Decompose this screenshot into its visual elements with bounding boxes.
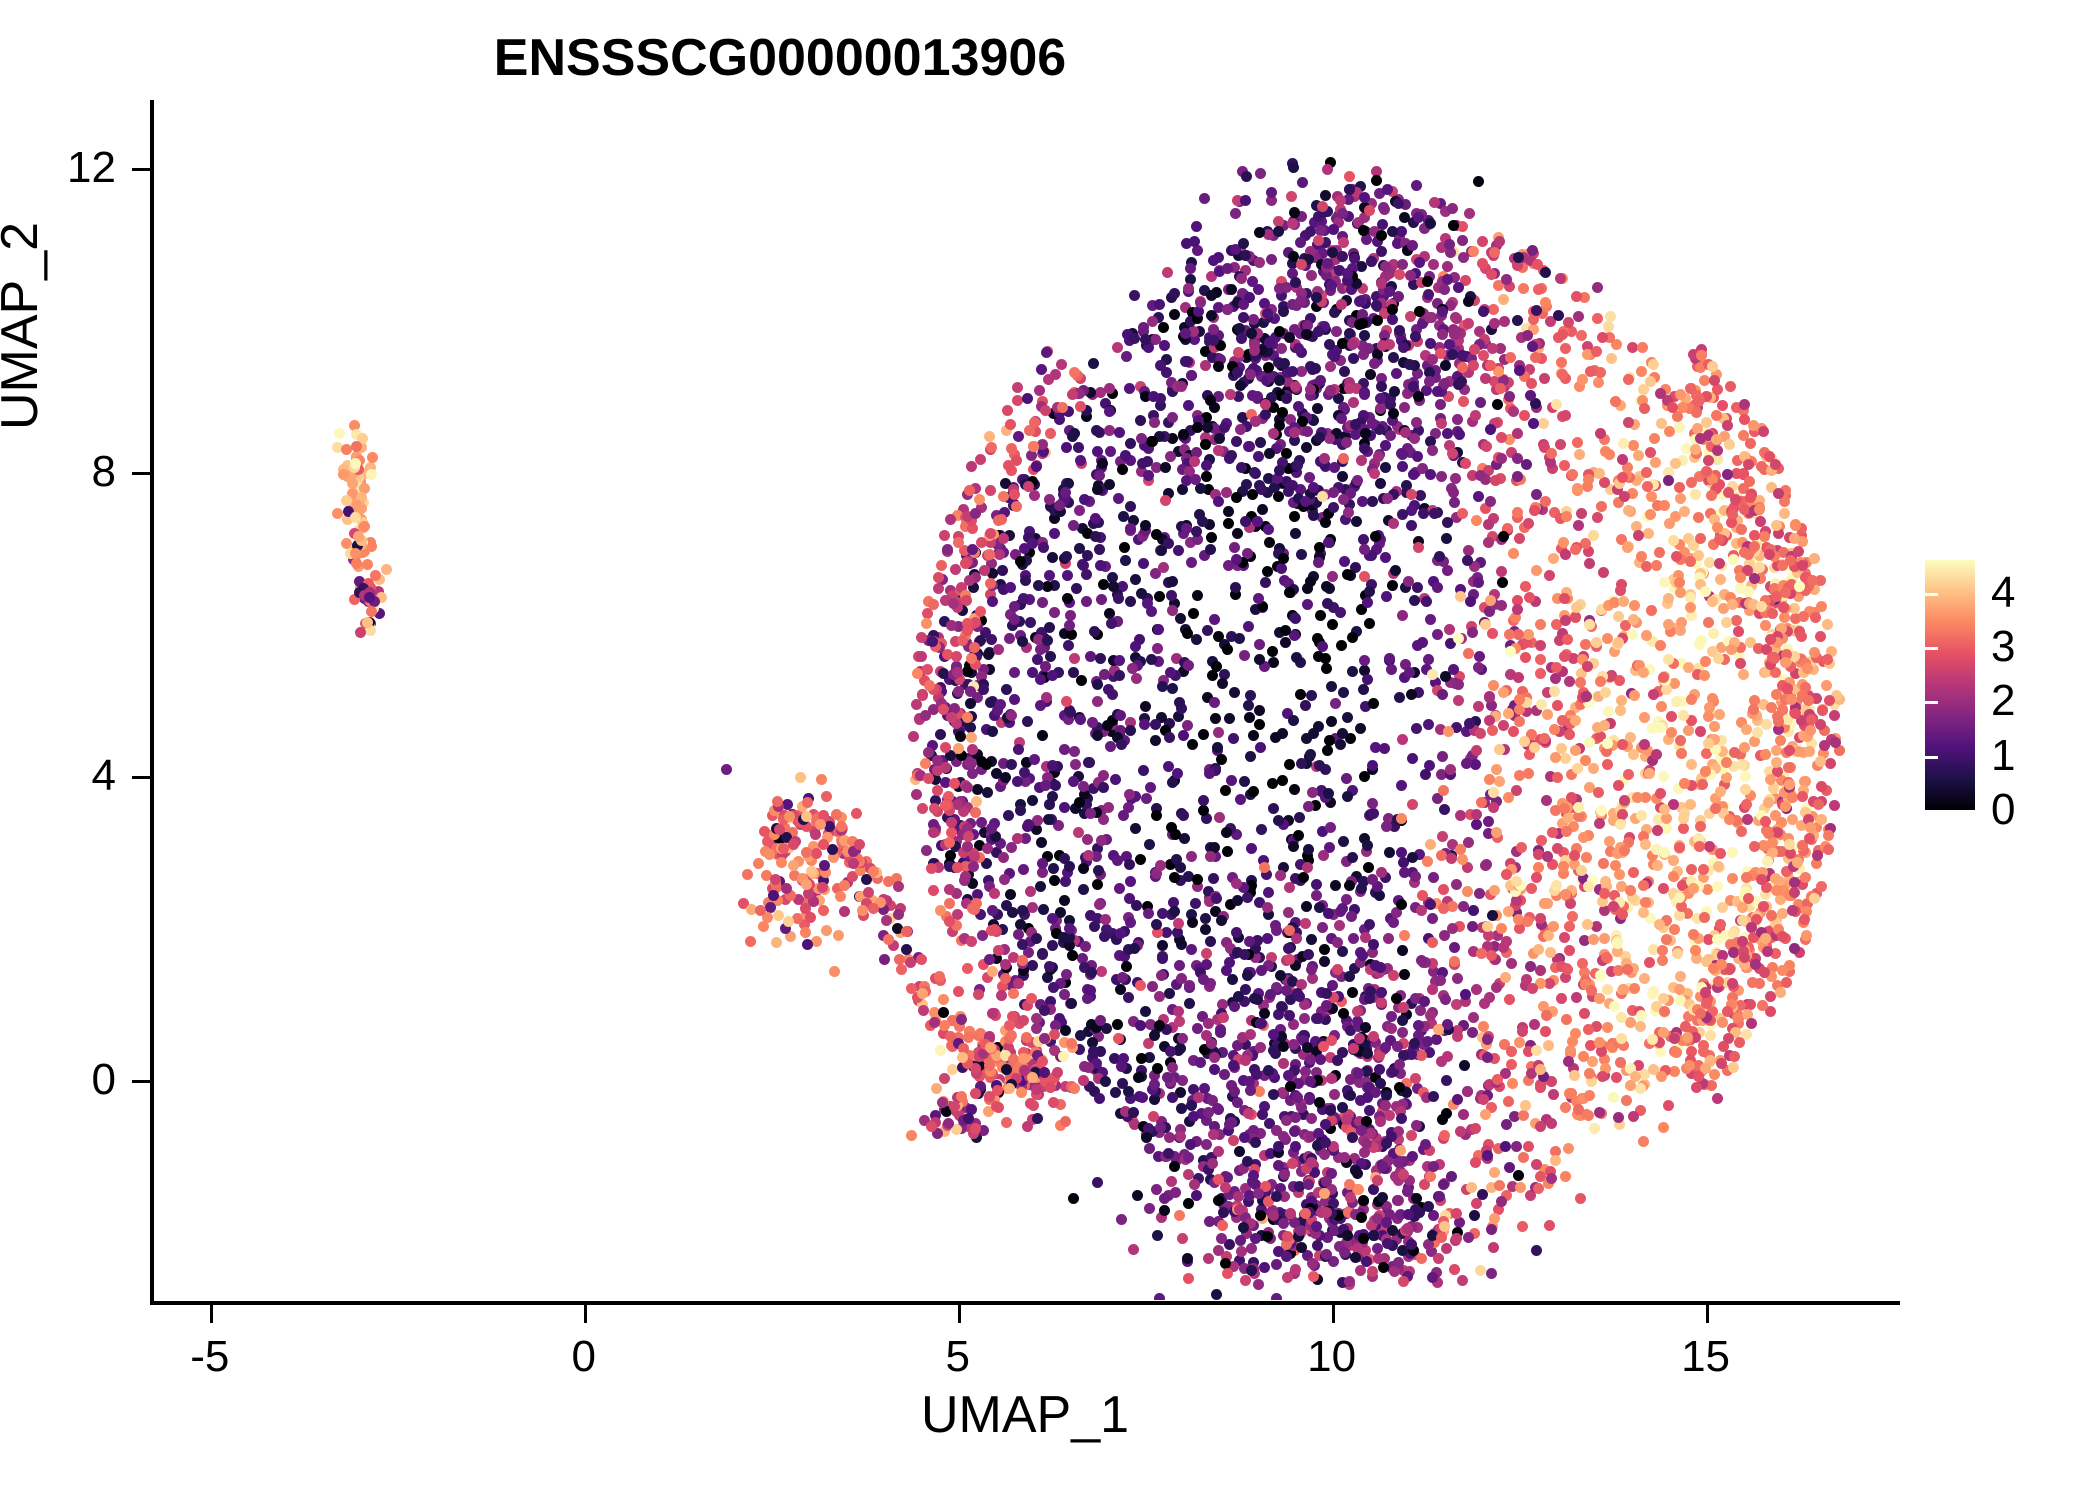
data-point [1125,725,1136,736]
data-point [1223,506,1234,517]
data-point [1487,343,1498,354]
data-point [1655,388,1666,399]
data-point [1485,424,1496,435]
data-point [1763,797,1774,808]
data-point [1400,427,1411,438]
data-point [1425,899,1436,910]
data-point [1263,524,1274,535]
data-point [1734,1037,1745,1048]
data-point [1208,324,1219,335]
data-point [1471,984,1482,995]
data-point [1348,397,1359,408]
data-point [1475,397,1486,408]
data-point [1342,791,1353,802]
data-point [1540,496,1551,507]
data-point [1124,383,1135,394]
data-point [1556,993,1567,1004]
data-point [1129,943,1140,954]
data-point [1359,330,1370,341]
data-point [1398,1276,1409,1287]
data-point [1498,294,1509,305]
data-point [1674,422,1685,433]
data-point [1074,505,1085,516]
data-point [1311,879,1322,890]
data-point [1159,340,1170,351]
data-point [1189,236,1200,247]
data-point [1690,489,1701,500]
data-point [1322,745,1333,756]
data-point [1192,422,1203,433]
data-point [1035,700,1046,711]
data-point [1413,212,1424,223]
data-point [1278,1218,1289,1229]
data-point [1757,1000,1768,1011]
data-point [1198,974,1209,985]
data-point [1195,297,1206,308]
data-point [1143,908,1154,919]
data-point [1691,407,1702,418]
data-point [1323,908,1334,919]
data-point [1684,1060,1695,1071]
data-point [1527,245,1538,256]
data-point [1439,930,1450,941]
data-point [1330,698,1341,709]
data-point [1323,537,1334,548]
data-point [1285,1208,1296,1219]
data-point [1481,441,1492,452]
data-point [986,823,997,834]
data-point [1047,791,1058,802]
data-point [1419,996,1430,1007]
data-point [1436,418,1447,429]
data-point [1356,1212,1367,1223]
data-point [1512,428,1523,439]
data-point [1244,712,1255,723]
data-point [1393,1257,1404,1268]
data-point [1518,1110,1529,1121]
data-point [1627,342,1638,353]
data-point [1573,520,1584,531]
data-point [1754,504,1765,515]
data-point [1120,450,1131,461]
data-point [1042,635,1053,646]
data-point [1528,418,1539,429]
data-point [1571,291,1582,302]
data-point [1368,1031,1379,1042]
data-point [1216,754,1227,765]
data-point [1140,334,1151,345]
data-point [1380,462,1391,473]
data-point [1060,1025,1071,1036]
data-point [1136,1053,1147,1064]
data-point [1234,1146,1245,1157]
data-point [1395,1145,1406,1156]
data-point [1063,640,1074,651]
data-point [1564,729,1575,740]
data-point [1359,389,1370,400]
data-point [1339,366,1350,377]
data-point [1386,1011,1397,1022]
data-point [1031,933,1042,944]
data-point [1288,162,1299,173]
data-point [1289,207,1300,218]
data-point [1306,690,1317,701]
data-point [1322,164,1333,175]
data-point [1376,381,1387,392]
data-point [1739,742,1750,753]
data-point [1330,880,1341,891]
data-point [1428,872,1439,883]
data-point [1424,376,1435,387]
data-point [1474,651,1485,662]
data-point [1375,403,1386,414]
data-point [1345,1090,1356,1101]
data-point [1191,1190,1202,1201]
data-point [1265,989,1276,1000]
data-point [1451,879,1462,890]
data-point [1049,875,1060,886]
data-point [1741,799,1752,810]
data-point [1727,847,1738,858]
data-point [1377,340,1388,351]
data-point [1420,1139,1431,1150]
data-point [1594,468,1605,479]
data-point [1506,1046,1517,1057]
data-point [1231,492,1242,503]
data-point [1376,246,1387,257]
data-point [1255,437,1266,448]
data-point [1095,1015,1106,1026]
data-point [1175,1043,1186,1054]
data-point [1224,713,1235,724]
data-point [1539,373,1550,384]
data-point [1388,917,1399,928]
data-point [1436,1232,1447,1243]
data-point [1125,438,1136,449]
data-point [1158,322,1169,333]
data-point [1257,504,1268,515]
data-point [1005,582,1016,593]
data-point [1629,600,1640,611]
data-point [1083,850,1094,861]
data-point [1697,779,1708,790]
data-point [1707,361,1718,372]
data-point [1560,1102,1571,1113]
data-point [1365,986,1376,997]
data-point [1364,586,1375,597]
data-point [1245,1029,1256,1040]
data-point [1125,501,1136,512]
data-point [1346,911,1357,922]
data-point [1250,1137,1261,1148]
data-point [1347,666,1358,677]
data-point [1273,1141,1284,1152]
data-point [1755,516,1766,527]
data-point [1223,518,1234,529]
data-point [1368,939,1379,950]
data-point [1572,483,1583,494]
data-point [1422,856,1433,867]
data-point [1393,198,1404,209]
data-point [1452,1094,1463,1105]
data-point [1486,1268,1497,1279]
data-point [1047,552,1058,563]
data-point [1277,728,1288,739]
data-point [1200,360,1211,371]
data-point [1259,1262,1270,1273]
data-point [1326,716,1337,727]
data-point [1159,1205,1170,1216]
data-point [1409,595,1420,606]
data-point [1214,812,1225,823]
data-point [1603,706,1614,717]
data-point [1344,383,1355,394]
data-point [1457,508,1468,519]
data-point [1232,367,1243,378]
data-point [1512,315,1523,326]
data-point [1618,984,1629,995]
data-point [1382,493,1393,504]
data-point [1641,561,1652,572]
data-point [1505,669,1516,680]
data-point [1448,220,1459,231]
data-point [1490,475,1501,486]
data-point [1308,482,1319,493]
data-point [1571,992,1582,1003]
data-point [1282,1231,1293,1242]
data-point [1594,818,1605,829]
data-point [1105,741,1116,752]
data-point [1094,899,1105,910]
data-point [1245,369,1256,380]
data-point [1448,487,1459,498]
data-point [1416,955,1427,966]
data-point [1397,945,1408,956]
data-point [1242,970,1253,981]
data-point [1078,863,1089,874]
data-point [993,644,1004,655]
data-point [1498,531,1509,542]
data-point [1522,330,1533,341]
data-point [1412,582,1423,593]
data-point [1376,867,1387,878]
data-point [1186,370,1197,381]
data-point [1775,735,1786,746]
data-point [1375,478,1386,489]
data-point [1049,528,1060,539]
data-point [1152,1063,1163,1074]
data-point [1132,1190,1143,1201]
data-point [1112,342,1123,353]
data-point [1560,549,1571,560]
data-point [1655,722,1666,733]
data-point [1555,439,1566,450]
data-point [1345,1192,1356,1203]
data-point [1075,714,1086,725]
data-point [1613,637,1624,648]
data-point [1332,964,1343,975]
data-point [1390,565,1401,576]
data-point [1567,469,1578,480]
data-point [1652,825,1663,836]
data-point [1152,1230,1163,1241]
data-point [1243,700,1254,711]
data-point [1038,904,1049,915]
data-point [1610,396,1621,407]
data-point [1520,581,1531,592]
data-point [1667,402,1678,413]
data-point [1760,816,1771,827]
data-point [1250,416,1261,427]
data-point [1037,949,1048,960]
data-point [1174,1016,1185,1027]
data-point [1138,558,1149,569]
data-point [1570,745,1581,756]
data-point [1543,1040,1554,1051]
data-point [1023,819,1034,830]
data-point [1165,451,1176,462]
data-point [1494,236,1505,247]
data-point [1368,808,1379,819]
data-point [1327,247,1338,258]
data-point [1387,304,1398,315]
data-point [1216,915,1227,926]
data-point [1284,954,1295,965]
data-point [1335,607,1346,618]
data-point [1389,1266,1400,1277]
data-point [1124,859,1135,870]
data-point [1092,696,1103,707]
data-point [1154,991,1165,1002]
data-point [1467,627,1478,638]
data-point [1455,1126,1466,1137]
data-point [1577,958,1588,969]
data-point [1251,1069,1262,1080]
data-point [1080,941,1091,952]
data-point [1787,905,1798,916]
data-point [1823,844,1834,855]
data-point [1450,312,1461,323]
data-point [1211,1289,1222,1300]
data-point [1086,967,1097,978]
data-point [1347,339,1358,350]
data-point [1262,566,1273,577]
data-point [1432,629,1443,640]
data-point [1596,501,1607,512]
data-point [1350,1252,1361,1263]
data-point [1307,787,1318,798]
data-point [1118,511,1129,522]
data-point [1217,1220,1228,1231]
data-point [1338,494,1349,505]
data-point [1573,311,1584,322]
data-point [1334,920,1345,931]
data-point [1411,1120,1422,1131]
data-point [1635,1021,1646,1032]
data-point [1301,329,1312,340]
data-point [1140,1006,1151,1017]
data-point [1139,719,1150,730]
data-point [1243,1108,1254,1119]
data-point [1648,986,1659,997]
data-point [1140,520,1151,531]
data-point [1359,571,1370,582]
data-point [1695,1008,1706,1019]
data-point [1167,1062,1178,1073]
data-point [1801,930,1812,941]
data-point [1125,596,1136,607]
data-point [981,759,992,770]
data-point [1235,380,1246,391]
data-point [1232,895,1243,906]
data-point [1427,913,1438,924]
data-point [1174,960,1185,971]
data-point [1367,496,1378,507]
data-point [1784,779,1795,790]
data-point [1668,535,1679,546]
data-point [1815,631,1826,642]
data-point [1738,669,1749,680]
data-point [1246,328,1257,339]
data-point [1112,855,1123,866]
data-point [1501,1119,1512,1130]
data-point [1314,1097,1325,1108]
data-point [1278,1058,1289,1069]
data-point [1229,687,1240,698]
data-point [1698,1046,1709,1057]
data-point [983,649,994,660]
data-point [1507,1078,1518,1089]
data-point [1447,203,1458,214]
data-point [1114,655,1125,666]
data-point [1517,1026,1528,1037]
data-point [1397,734,1408,745]
data-point [1035,644,1046,655]
data-point [1256,965,1267,976]
data-point [1408,469,1419,480]
data-point [1206,290,1217,301]
data-point [1276,563,1287,574]
data-point [1414,306,1425,317]
data-point [1092,730,1103,741]
data-point [1628,440,1639,451]
data-point [1593,377,1604,388]
data-point [1123,992,1134,1003]
data-point [1789,887,1800,898]
data-point [1325,385,1336,396]
data-point [1468,905,1479,916]
data-point [1173,1006,1184,1017]
data-point [1713,653,1724,664]
data-point [1338,237,1349,248]
data-point [1555,273,1566,284]
data-point [1096,966,1107,977]
data-point [1197,516,1208,527]
data-point [1335,739,1346,750]
data-point [1512,604,1523,615]
data-point [1235,794,1246,805]
data-point [1115,710,1126,721]
data-point [1669,924,1680,935]
data-point [1436,471,1447,482]
data-point [1661,813,1672,824]
data-point [1477,1189,1488,1200]
data-point [1473,176,1484,187]
data-point [1778,602,1789,613]
data-point [1623,374,1634,385]
data-point [1576,508,1587,519]
data-point [1437,831,1448,842]
